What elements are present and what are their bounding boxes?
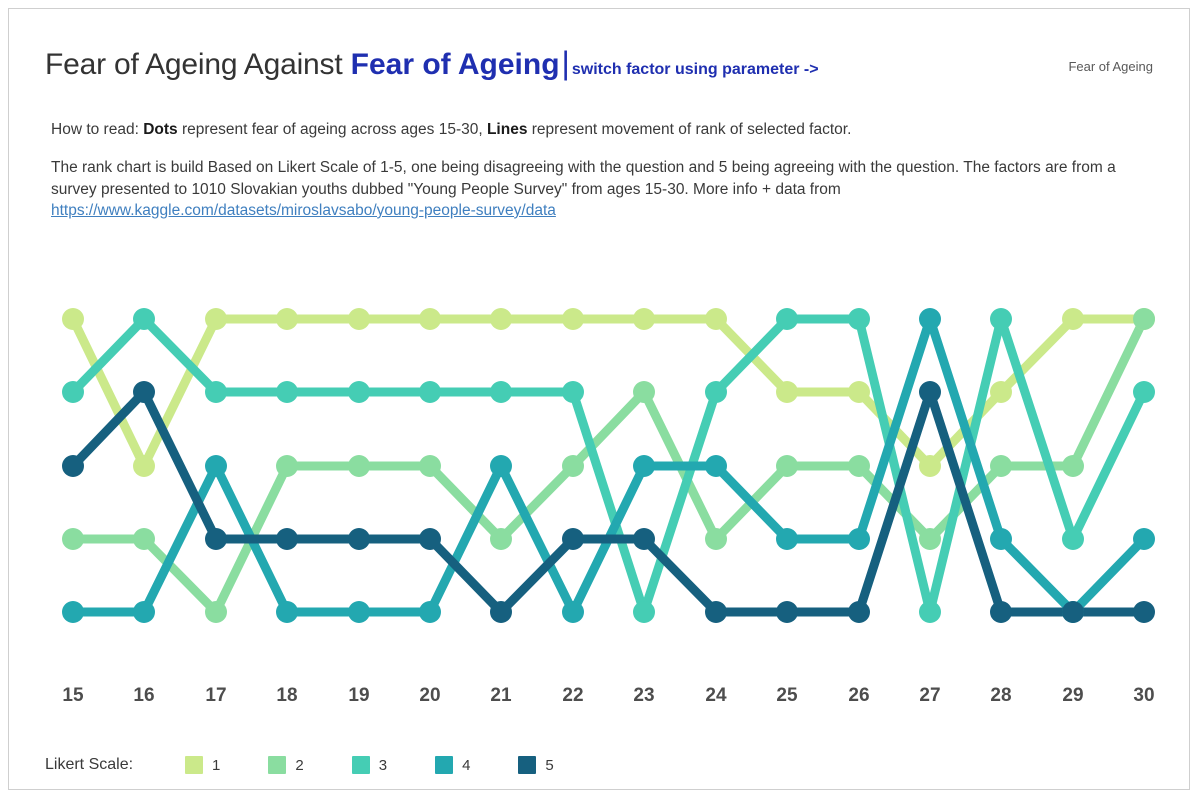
title-parameter-hint[interactable]: switch factor using parameter -> (572, 61, 819, 78)
rank-dot[interactable] (419, 601, 441, 623)
rank-dot[interactable] (490, 601, 512, 623)
rank-dot[interactable] (848, 601, 870, 623)
rank-dot[interactable] (776, 528, 798, 550)
rank-line-3 (73, 319, 1144, 612)
selected-factor-label: Fear of Ageing (1068, 59, 1153, 74)
rank-dot[interactable] (62, 601, 84, 623)
rank-line-1 (73, 319, 1144, 466)
rank-dot[interactable] (633, 455, 655, 477)
rank-dot[interactable] (705, 601, 727, 623)
rank-dot[interactable] (705, 528, 727, 550)
rank-dot[interactable] (633, 601, 655, 623)
report-canvas: Fear of Ageing Against Fear of Ageing|sw… (8, 8, 1190, 790)
rank-dot[interactable] (705, 381, 727, 403)
rank-dot[interactable] (919, 601, 941, 623)
rank-dot[interactable] (419, 455, 441, 477)
rank-dot[interactable] (919, 455, 941, 477)
rank-dot[interactable] (276, 308, 298, 330)
title-prefix: Fear of Ageing Against (45, 48, 351, 81)
x-axis-tick-19: 19 (348, 685, 369, 707)
legend-swatch-icon (352, 756, 370, 774)
rank-dot[interactable] (990, 381, 1012, 403)
howto-mid2: represent movement of rank of selected f… (527, 121, 851, 138)
legend-item-4[interactable]: 4 (435, 756, 470, 774)
x-axis-tick-21: 21 (490, 685, 511, 707)
legend-item-2[interactable]: 2 (268, 756, 303, 774)
x-axis-tick-20: 20 (419, 685, 440, 707)
rank-dot[interactable] (776, 381, 798, 403)
rank-dot[interactable] (776, 601, 798, 623)
rank-dot[interactable] (990, 528, 1012, 550)
rank-dot[interactable] (276, 528, 298, 550)
rank-dot[interactable] (205, 381, 227, 403)
rank-dot[interactable] (490, 528, 512, 550)
legend-title: Likert Scale: (45, 756, 133, 774)
x-axis-tick-22: 22 (562, 685, 583, 707)
rank-dot[interactable] (1133, 381, 1155, 403)
rank-dot[interactable] (562, 528, 584, 550)
rank-dot[interactable] (490, 308, 512, 330)
x-axis-tick-16: 16 (133, 685, 154, 707)
rank-dot[interactable] (205, 455, 227, 477)
rank-dot[interactable] (133, 601, 155, 623)
rank-line-4 (73, 319, 1144, 612)
rank-dot[interactable] (562, 381, 584, 403)
rank-dot[interactable] (776, 308, 798, 330)
description-body: The rank chart is build Based on Likert … (51, 159, 1116, 198)
rank-dot[interactable] (705, 308, 727, 330)
howto-bold-lines: Lines (487, 121, 527, 138)
x-axis: 15161718192021222324252627282930 (9, 685, 1191, 715)
page-title: Fear of Ageing Against Fear of Ageing|sw… (45, 45, 819, 82)
rank-dot[interactable] (490, 381, 512, 403)
rank-dot[interactable] (348, 381, 370, 403)
rank-dot[interactable] (490, 455, 512, 477)
rank-dot[interactable] (1062, 308, 1084, 330)
rank-dot[interactable] (1133, 308, 1155, 330)
rank-dot[interactable] (133, 308, 155, 330)
x-axis-tick-26: 26 (848, 685, 869, 707)
rank-dot[interactable] (133, 455, 155, 477)
x-axis-tick-15: 15 (62, 685, 83, 707)
rank-dot[interactable] (633, 528, 655, 550)
legend: Likert Scale: 12345 (45, 751, 602, 779)
rank-dot[interactable] (990, 308, 1012, 330)
legend-label: 3 (379, 757, 387, 774)
rank-dot[interactable] (62, 381, 84, 403)
chart-dot-group (62, 308, 1155, 623)
rank-dot[interactable] (705, 455, 727, 477)
legend-label: 4 (462, 757, 470, 774)
x-axis-tick-29: 29 (1062, 685, 1083, 707)
rank-dot[interactable] (348, 601, 370, 623)
rank-dot[interactable] (276, 381, 298, 403)
rank-dot[interactable] (1133, 601, 1155, 623)
description-text: The rank chart is build Based on Likert … (51, 157, 1161, 222)
rank-dot[interactable] (205, 601, 227, 623)
rank-line-2 (73, 319, 1144, 612)
title-separator: | (562, 45, 570, 81)
rank-dot[interactable] (348, 308, 370, 330)
rank-dot[interactable] (1133, 308, 1155, 330)
rank-line-5 (73, 392, 1144, 612)
x-axis-tick-17: 17 (205, 685, 226, 707)
howto-mid1: represent fear of ageing across ages 15-… (178, 121, 487, 138)
rank-dot[interactable] (1062, 528, 1084, 550)
title-highlight: Fear of Ageing (351, 48, 560, 81)
legend-item-5[interactable]: 5 (518, 756, 553, 774)
rank-dot[interactable] (848, 381, 870, 403)
rank-dot[interactable] (1133, 528, 1155, 550)
rank-dot[interactable] (633, 381, 655, 403)
howto-bold-dots: Dots (143, 121, 177, 138)
rank-dot[interactable] (848, 528, 870, 550)
x-axis-tick-27: 27 (919, 685, 940, 707)
rank-dot[interactable] (1062, 601, 1084, 623)
how-to-read-text: How to read: Dots represent fear of agei… (51, 119, 851, 140)
x-axis-tick-28: 28 (990, 685, 1011, 707)
rank-dot[interactable] (62, 528, 84, 550)
rank-dot[interactable] (562, 601, 584, 623)
legend-label: 5 (545, 757, 553, 774)
legend-label: 2 (295, 757, 303, 774)
rank-dot[interactable] (205, 528, 227, 550)
rank-dot[interactable] (990, 455, 1012, 477)
rank-dot[interactable] (919, 308, 941, 330)
rank-dot[interactable] (276, 455, 298, 477)
legend-swatch-icon (185, 756, 203, 774)
rank-dot[interactable] (633, 308, 655, 330)
rank-dot[interactable] (133, 528, 155, 550)
x-axis-tick-25: 25 (776, 685, 797, 707)
rank-dot[interactable] (419, 528, 441, 550)
rank-dot[interactable] (1062, 601, 1084, 623)
rank-dot[interactable] (919, 528, 941, 550)
rank-dot[interactable] (990, 601, 1012, 623)
rank-dot[interactable] (848, 308, 870, 330)
rank-dot[interactable] (1062, 455, 1084, 477)
rank-dot[interactable] (348, 528, 370, 550)
rank-dot[interactable] (848, 455, 870, 477)
rank-dot[interactable] (133, 381, 155, 403)
rank-dot[interactable] (62, 308, 84, 330)
howto-lead: How to read: (51, 121, 143, 138)
legend-label: 1 (212, 757, 220, 774)
legend-item-1[interactable]: 1 (185, 756, 220, 774)
rank-dot[interactable] (419, 308, 441, 330)
legend-swatch-icon (518, 756, 536, 774)
rank-dot[interactable] (919, 381, 941, 403)
legend-swatch-icon (435, 756, 453, 774)
rank-dot[interactable] (62, 455, 84, 477)
rank-dot[interactable] (562, 455, 584, 477)
x-axis-tick-18: 18 (276, 685, 297, 707)
legend-swatch-icon (268, 756, 286, 774)
chart-line-group (73, 319, 1144, 612)
rank-dot[interactable] (348, 455, 370, 477)
rank-dot[interactable] (776, 455, 798, 477)
rank-dot[interactable] (562, 308, 584, 330)
rank-dot[interactable] (419, 381, 441, 403)
kaggle-dataset-link[interactable]: https://www.kaggle.com/datasets/miroslav… (51, 202, 556, 219)
x-axis-tick-23: 23 (633, 685, 654, 707)
x-axis-tick-24: 24 (705, 685, 726, 707)
legend-item-3[interactable]: 3 (352, 756, 387, 774)
x-axis-tick-30: 30 (1133, 685, 1154, 707)
rank-dot[interactable] (205, 308, 227, 330)
rank-dot[interactable] (276, 601, 298, 623)
